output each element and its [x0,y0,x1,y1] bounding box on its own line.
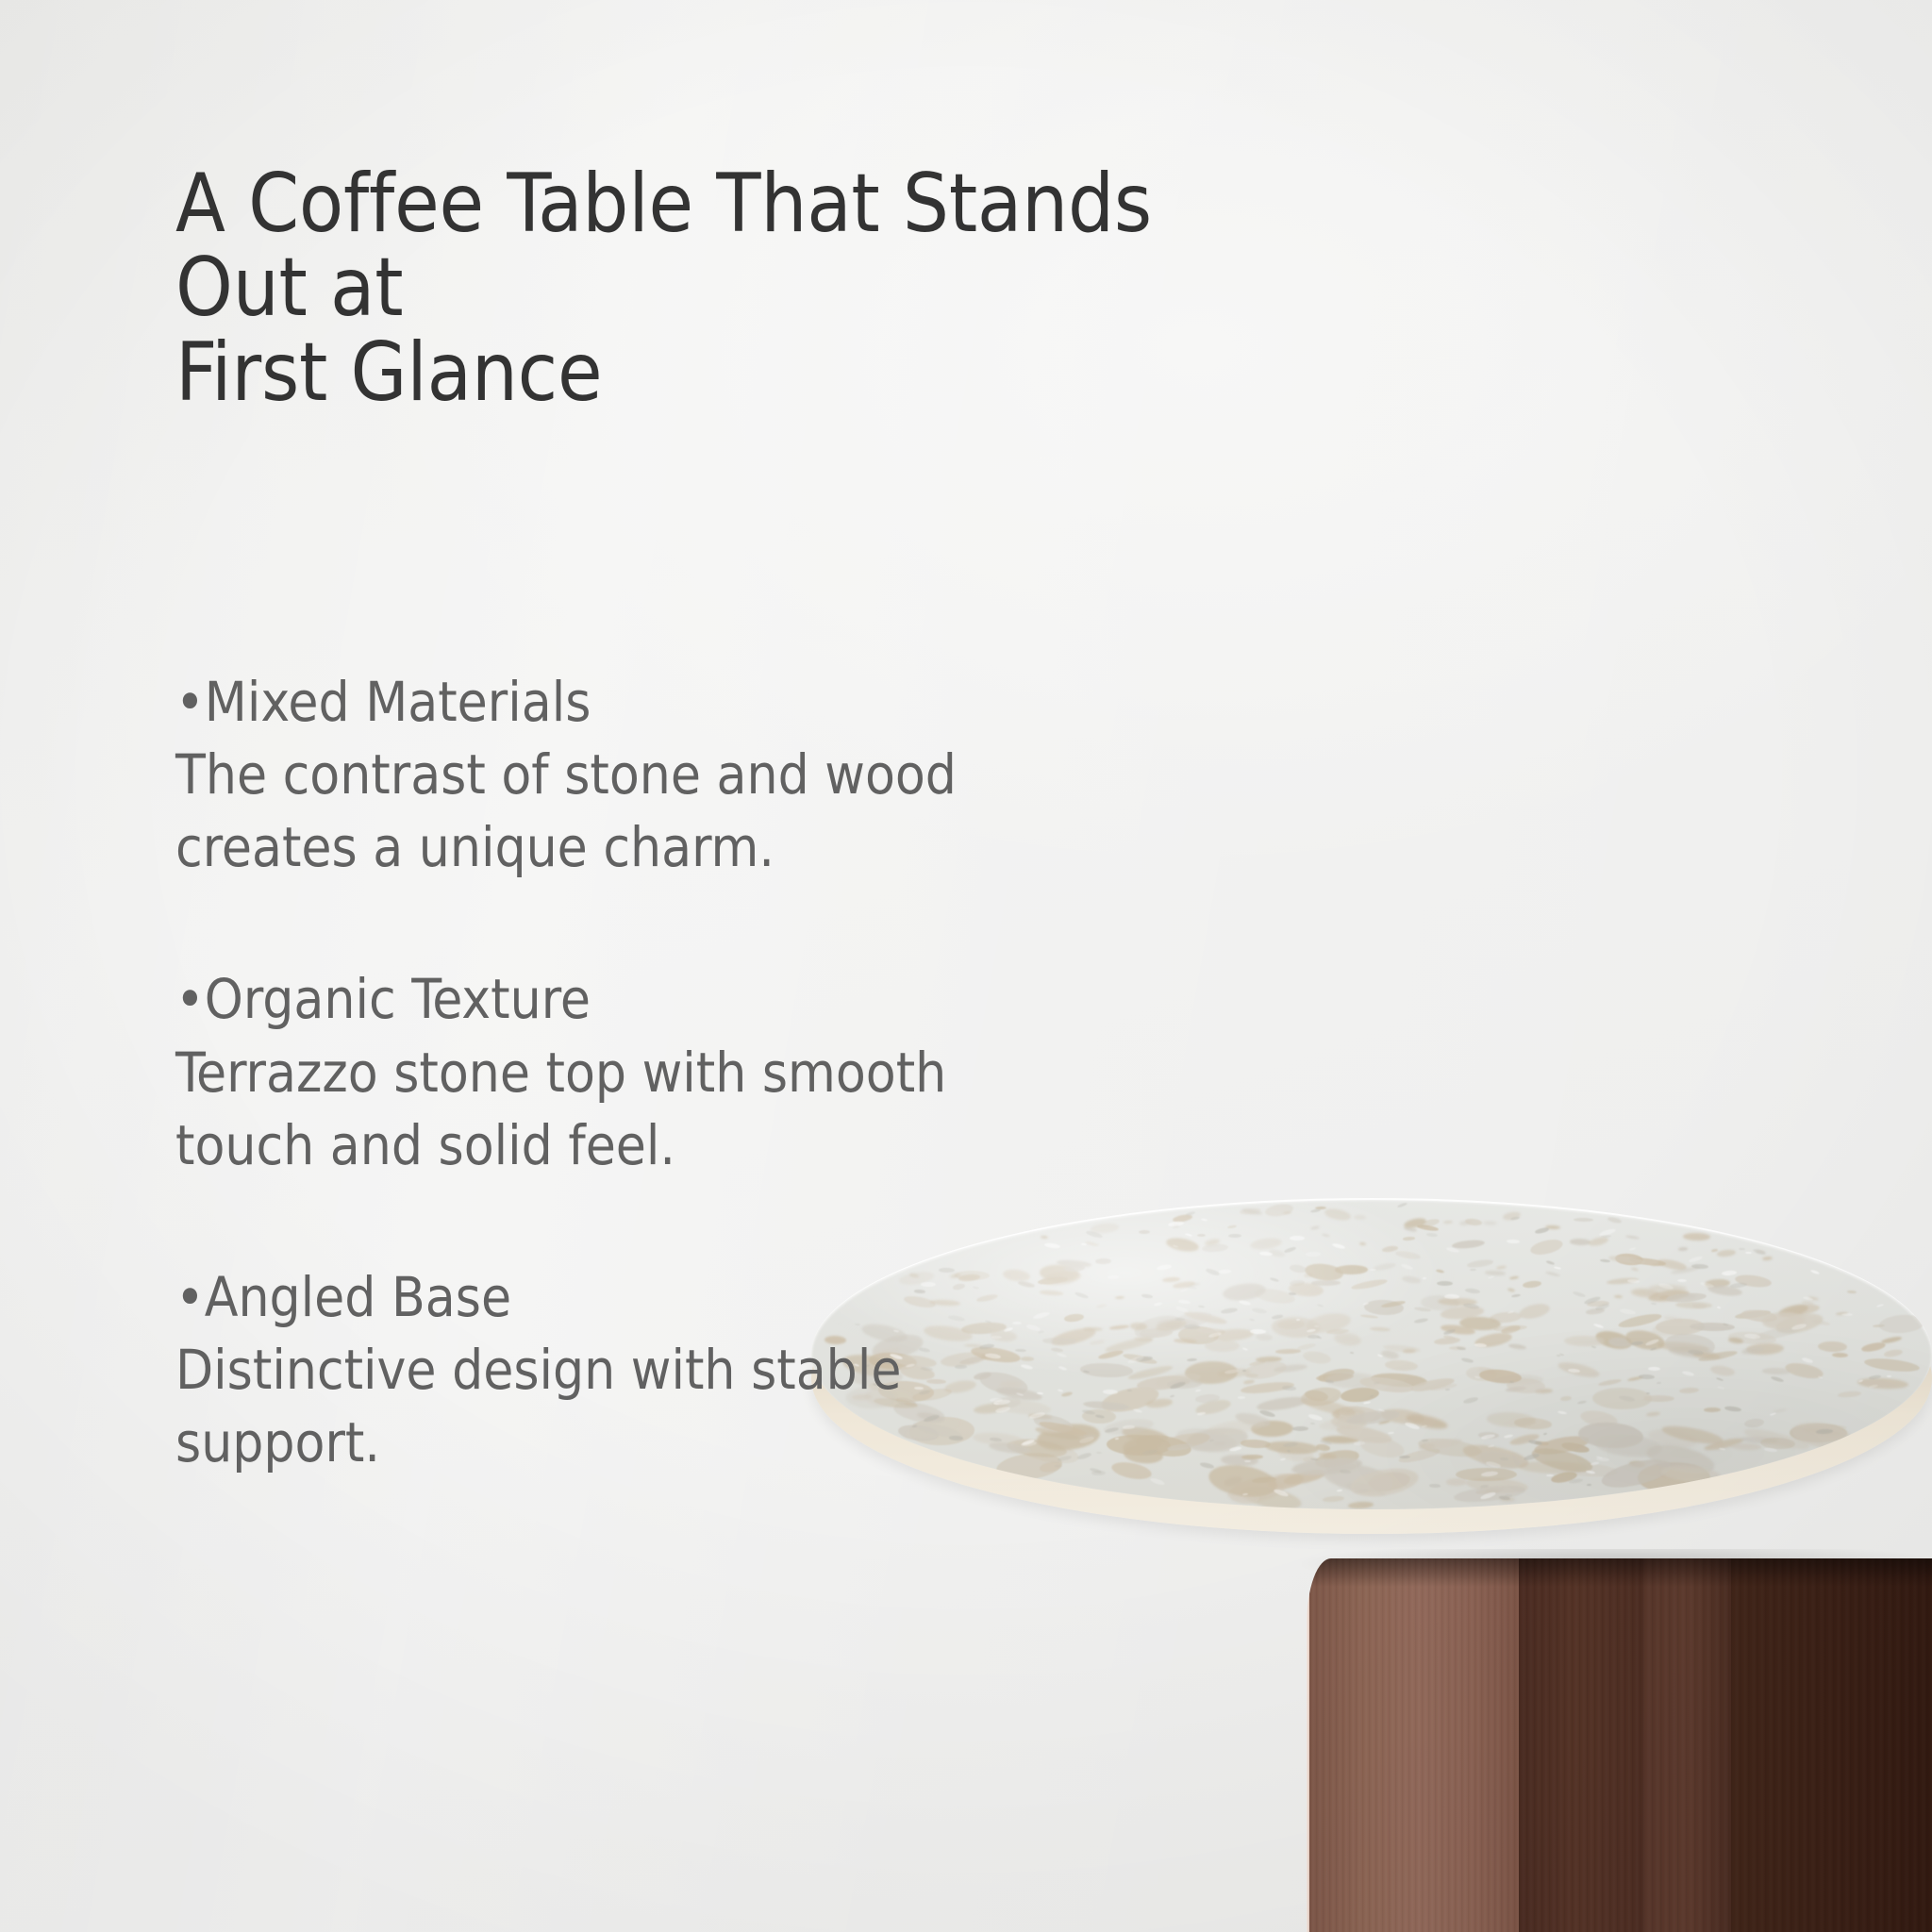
terrazzo-fleck [1677,1279,1687,1282]
wood-panel-left [1309,1558,1519,1932]
terrazzo-chip [1731,1442,1761,1451]
terrazzo-fleck [1488,1275,1494,1279]
terrazzo-chip [1496,1266,1507,1270]
terrazzo-fleck [1770,1412,1776,1416]
terrazzo-chip [1483,1222,1497,1225]
terrazzo-fleck [1543,1433,1547,1436]
terrazzo-fleck [1241,1347,1247,1350]
terrazzo-fleck [1306,1252,1321,1257]
terrazzo-fleck [1220,1307,1237,1315]
terrazzo-chip [1322,1233,1331,1238]
terrazzo-fleck [1362,1401,1370,1404]
terrazzo-fleck [1557,1410,1568,1415]
terrazzo-fleck [1239,1299,1252,1306]
terrazzo-fleck [1546,1474,1554,1476]
terrazzo-chip [1570,1238,1591,1244]
terrazzo-chip [1434,1337,1460,1346]
terrazzo-fleck [1280,1457,1286,1460]
terrazzo-chip [1564,1336,1605,1347]
terrazzo-chip [1879,1314,1925,1335]
terrazzo-fleck [1429,1484,1441,1488]
terrazzo-fleck [1887,1374,1891,1376]
terrazzo-fleck [1282,1385,1296,1391]
terrazzo-fleck [1283,1246,1295,1254]
product-feature-slide: A Coffee Table That Stands Out at First … [0,0,1932,1932]
terrazzo-fleck [1717,1386,1724,1390]
terrazzo-chip [1401,1275,1420,1284]
terrazzo-chip [1359,1242,1366,1246]
terrazzo-fleck [1802,1357,1813,1363]
terrazzo-fleck [1308,1413,1324,1421]
terrazzo-fleck [1445,1389,1450,1391]
terrazzo-chip [1249,1236,1282,1250]
terrazzo-fleck [1201,1219,1207,1222]
terrazzo-fleck [1474,1342,1486,1347]
terrazzo-chip [1478,1368,1522,1385]
feature-list: •Mixed Materials The contrast of stone a… [175,666,1194,1479]
terrazzo-fleck [1219,1270,1231,1274]
terrazzo-fleck [1511,1293,1521,1298]
terrazzo-chip [1205,1340,1240,1352]
feature-item-angled-base: •Angled Base Distinctive design with sta… [175,1261,1194,1479]
terrazzo-chip [1485,1271,1506,1276]
terrazzo-chip [1385,1359,1419,1372]
terrazzo-chip [1359,1313,1377,1318]
terrazzo-chip [1265,1203,1294,1218]
terrazzo-chip [1227,1224,1237,1229]
terrazzo-fleck [1810,1269,1821,1274]
terrazzo-fleck [1546,1259,1555,1264]
terrazzo-fleck [1876,1304,1884,1307]
terrazzo-fleck [1569,1478,1583,1484]
terrazzo-chip [1322,1495,1343,1503]
terrazzo-chip [1443,1220,1453,1224]
terrazzo-fleck [1401,1263,1414,1271]
terrazzo-fleck [1650,1347,1657,1351]
terrazzo-chip [1864,1357,1921,1374]
feature-description: Terrazzo stone top with smooth touch and… [175,1037,1194,1182]
terrazzo-chip [1716,1249,1736,1258]
terrazzo-fleck [1437,1281,1453,1286]
terrazzo-fleck [1689,1256,1703,1264]
terrazzo-fleck [1764,1447,1777,1453]
terrazzo-chip [1373,1262,1396,1273]
terrazzo-fleck [1296,1319,1300,1321]
terrazzo-fleck [1259,1252,1273,1257]
terrazzo-fleck [1317,1304,1324,1307]
terrazzo-chip [1395,1250,1422,1260]
terrazzo-fleck [1292,1426,1308,1431]
terrazzo-chip [1857,1377,1909,1391]
terrazzo-fleck [1739,1247,1745,1249]
terrazzo-chip [1302,1350,1331,1366]
terrazzo-fleck [1573,1291,1586,1298]
terrazzo-chip [1678,1387,1698,1393]
terrazzo-fleck [1646,1391,1650,1393]
terrazzo-fleck [1425,1233,1437,1238]
terrazzo-chip [1545,1271,1560,1277]
terrazzo-fleck [1771,1375,1784,1383]
terrazzo-fleck [1841,1313,1853,1317]
terrazzo-chip [1847,1291,1857,1294]
terrazzo-chip [1436,1269,1444,1274]
terrazzo-fleck [1745,1252,1752,1254]
wood-panel-right [1643,1558,1731,1932]
terrazzo-fleck [1238,1396,1245,1399]
terrazzo-fleck [1722,1270,1737,1275]
terrazzo-fleck [1682,1371,1695,1377]
terrazzo-chip [1465,1218,1483,1226]
terrazzo-fleck [1397,1202,1407,1208]
terrazzo-chip [1657,1257,1687,1272]
terrazzo-chip [1370,1327,1391,1333]
terrazzo-fleck [1457,1346,1467,1351]
terrazzo-fleck [1310,1423,1315,1424]
terrazzo-fleck [1249,1319,1255,1322]
terrazzo-chip [1625,1235,1640,1240]
terrazzo-fleck [1577,1400,1588,1405]
terrazzo-chip [1197,1234,1206,1237]
terrazzo-chip [1354,1215,1367,1220]
terrazzo-fleck [1460,1357,1473,1363]
terrazzo-chip [1256,1334,1273,1341]
terrazzo-chip [1559,1395,1572,1402]
terrazzo-fleck [1470,1269,1476,1271]
terrazzo-chip [1486,1411,1535,1428]
terrazzo-chip [1643,1395,1674,1402]
terrazzo-fleck [1250,1328,1266,1333]
terrazzo-fleck [1716,1306,1721,1308]
terrazzo-fleck [1500,1457,1508,1460]
terrazzo-fleck [1331,1242,1345,1250]
feature-title: •Mixed Materials [175,666,1194,739]
terrazzo-fleck [1465,1288,1481,1294]
terrazzo-chip [1744,1418,1765,1429]
terrazzo-chip [1529,1237,1564,1257]
terrazzo-fleck [1719,1447,1726,1450]
terrazzo-fleck [1504,1434,1513,1439]
terrazzo-fleck [1196,1411,1205,1415]
terrazzo-chip [1683,1233,1711,1241]
terrazzo-chip [1818,1341,1848,1352]
terrazzo-fleck [1252,1307,1267,1313]
terrazzo-chip [1523,1280,1542,1289]
terrazzo-chip [1678,1247,1689,1251]
terrazzo-fleck [1600,1258,1610,1263]
terrazzo-fleck [1307,1334,1320,1338]
terrazzo-chip [1614,1295,1623,1299]
terrazzo-fleck [1199,1461,1214,1469]
terrazzo-chip [1310,1225,1321,1230]
terrazzo-chip [1832,1353,1849,1357]
terrazzo-chip [1883,1348,1903,1357]
terrazzo-fleck [1422,1425,1427,1428]
terrazzo-chip [1631,1267,1640,1272]
terrazzo-fleck [1691,1263,1708,1269]
terrazzo-fleck [1205,1268,1220,1276]
terrazzo-chip [1334,1331,1362,1346]
terrazzo-fleck [1591,1346,1597,1350]
terrazzo-fleck [1587,1484,1591,1486]
table-wood-base [1307,1558,1932,1932]
terrazzo-chip [1304,1261,1343,1282]
terrazzo-fleck [1198,1306,1205,1308]
feature-description: The contrast of stone and wood creates a… [175,739,1194,884]
terrazzo-fleck [1310,1208,1322,1213]
terrazzo-chip [1574,1218,1593,1222]
terrazzo-chip [1761,1368,1790,1374]
terrazzo-fleck [1629,1247,1636,1251]
terrazzo-fleck [1444,1294,1459,1299]
terrazzo-fleck [1290,1236,1305,1241]
terrazzo-fleck [1270,1277,1279,1283]
page-title: A Coffee Table That Stands Out at First … [175,162,1270,415]
terrazzo-fleck [1724,1406,1740,1412]
terrazzo-fleck [1593,1324,1604,1329]
terrazzo-chip [1324,1207,1352,1223]
terrazzo-chip [1275,1349,1301,1354]
feature-title: •Angled Base [175,1261,1194,1334]
terrazzo-fleck [1620,1308,1637,1316]
terrazzo-fleck [1651,1302,1657,1305]
terrazzo-chip [1761,1256,1772,1260]
terrazzo-chip [1508,1343,1527,1351]
terrazzo-chip [1202,1243,1228,1253]
terrazzo-chip [1597,1378,1622,1388]
terrazzo-fleck [1639,1374,1655,1379]
terrazzo-chip [1692,1304,1707,1308]
feature-description: Distinctive design with stable support. [175,1334,1194,1479]
terrazzo-fleck [1818,1375,1823,1379]
terrazzo-chip [1242,1358,1288,1382]
terrazzo-fleck [1648,1367,1660,1371]
feature-item-organic-texture: •Organic Texture Terrazzo stone top with… [175,963,1194,1181]
wood-panel-far-right [1731,1558,1932,1932]
terrazzo-fleck [1507,1240,1520,1244]
terrazzo-fleck [1195,1389,1202,1391]
terrazzo-fleck [1535,1226,1550,1234]
terrazzo-chip [1645,1411,1659,1417]
wood-panel-center [1519,1558,1643,1932]
terrazzo-fleck [1289,1292,1297,1295]
terrazzo-chip [1860,1341,1886,1354]
terrazzo-chip [1838,1391,1862,1398]
terrazzo-fleck [1422,1277,1426,1280]
terrazzo-chip [1351,1278,1389,1291]
feature-item-mixed-materials: •Mixed Materials The contrast of stone a… [175,666,1194,884]
terrazzo-chip [1710,1364,1736,1377]
terrazzo-chip [1607,1216,1623,1224]
terrazzo-fleck [1414,1318,1428,1324]
terrazzo-fleck [1463,1396,1478,1404]
wood-base-top-shadow [1307,1558,1932,1587]
terrazzo-fleck [1554,1266,1561,1270]
terrazzo-chip [1518,1302,1552,1322]
feature-title: •Organic Texture [175,963,1194,1036]
terrazzo-fleck [1228,1233,1241,1237]
terrazzo-chip [1403,1237,1415,1241]
terrazzo-chip [1467,1258,1494,1268]
terrazzo-chip [1509,1275,1519,1279]
terrazzo-chip [1348,1501,1374,1508]
terrazzo-chip [1507,1288,1516,1292]
terrazzo-fleck [1716,1377,1724,1382]
terrazzo-chip [1446,1478,1467,1486]
terrazzo-fleck [1336,1489,1342,1491]
terrazzo-fleck [1350,1352,1355,1355]
terrazzo-chip [1704,1407,1721,1412]
terrazzo-fleck [1657,1382,1661,1385]
terrazzo-fleck [1388,1431,1394,1434]
terrazzo-fleck [1370,1269,1376,1271]
